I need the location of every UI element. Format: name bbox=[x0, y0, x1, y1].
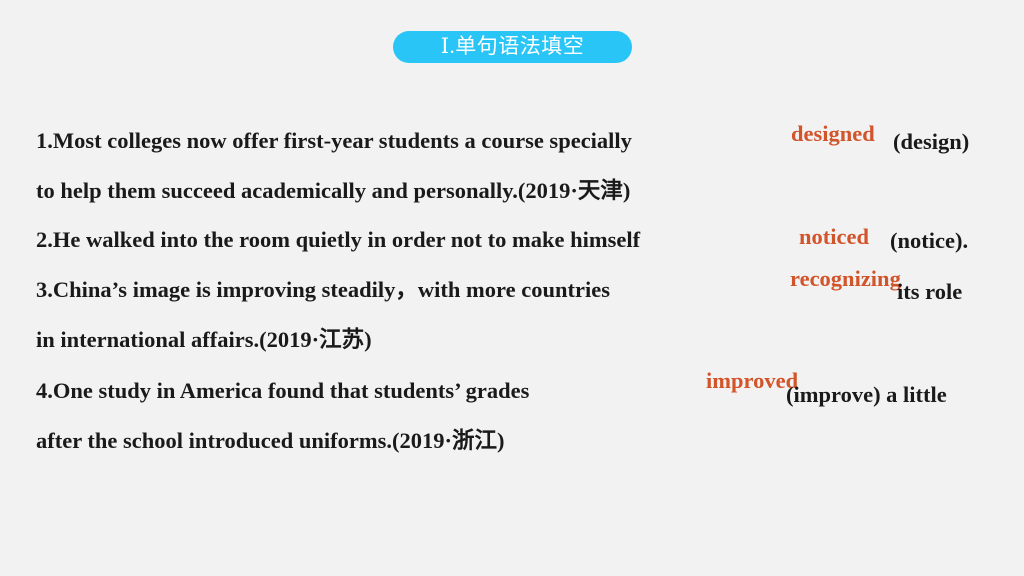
question-1-cue: (design) bbox=[893, 131, 969, 154]
question-4-line-1: 4.One study in America found that studen… bbox=[36, 380, 529, 403]
questions-body: 1.Most colleges now offer first-year stu… bbox=[0, 0, 1024, 576]
question-3-cue: its role bbox=[897, 281, 962, 304]
question-3-answer: recognizing bbox=[790, 268, 901, 291]
question-4-line-2: after the school introduced uniforms.(20… bbox=[36, 430, 505, 453]
question-4-cue: (improve) a little bbox=[786, 384, 947, 407]
question-2-cue: (notice). bbox=[890, 230, 968, 253]
question-2-line-1: 2.He walked into the room quietly in ord… bbox=[36, 229, 640, 252]
question-1-answer: designed bbox=[791, 123, 875, 146]
question-4-answer: improved bbox=[706, 370, 798, 393]
slide-canvas: Ⅰ.单句语法填空 1.Most colleges now offer first… bbox=[0, 0, 1024, 576]
question-2-answer: noticed bbox=[799, 226, 869, 249]
question-3-line-1: 3.China’s image is improving steadily，wi… bbox=[36, 279, 610, 302]
question-3-line-2: in international affairs.(2019·江苏) bbox=[36, 329, 372, 352]
question-1-line-2: to help them succeed academically and pe… bbox=[36, 180, 630, 203]
question-1-line-1: 1.Most colleges now offer first-year stu… bbox=[36, 130, 632, 153]
